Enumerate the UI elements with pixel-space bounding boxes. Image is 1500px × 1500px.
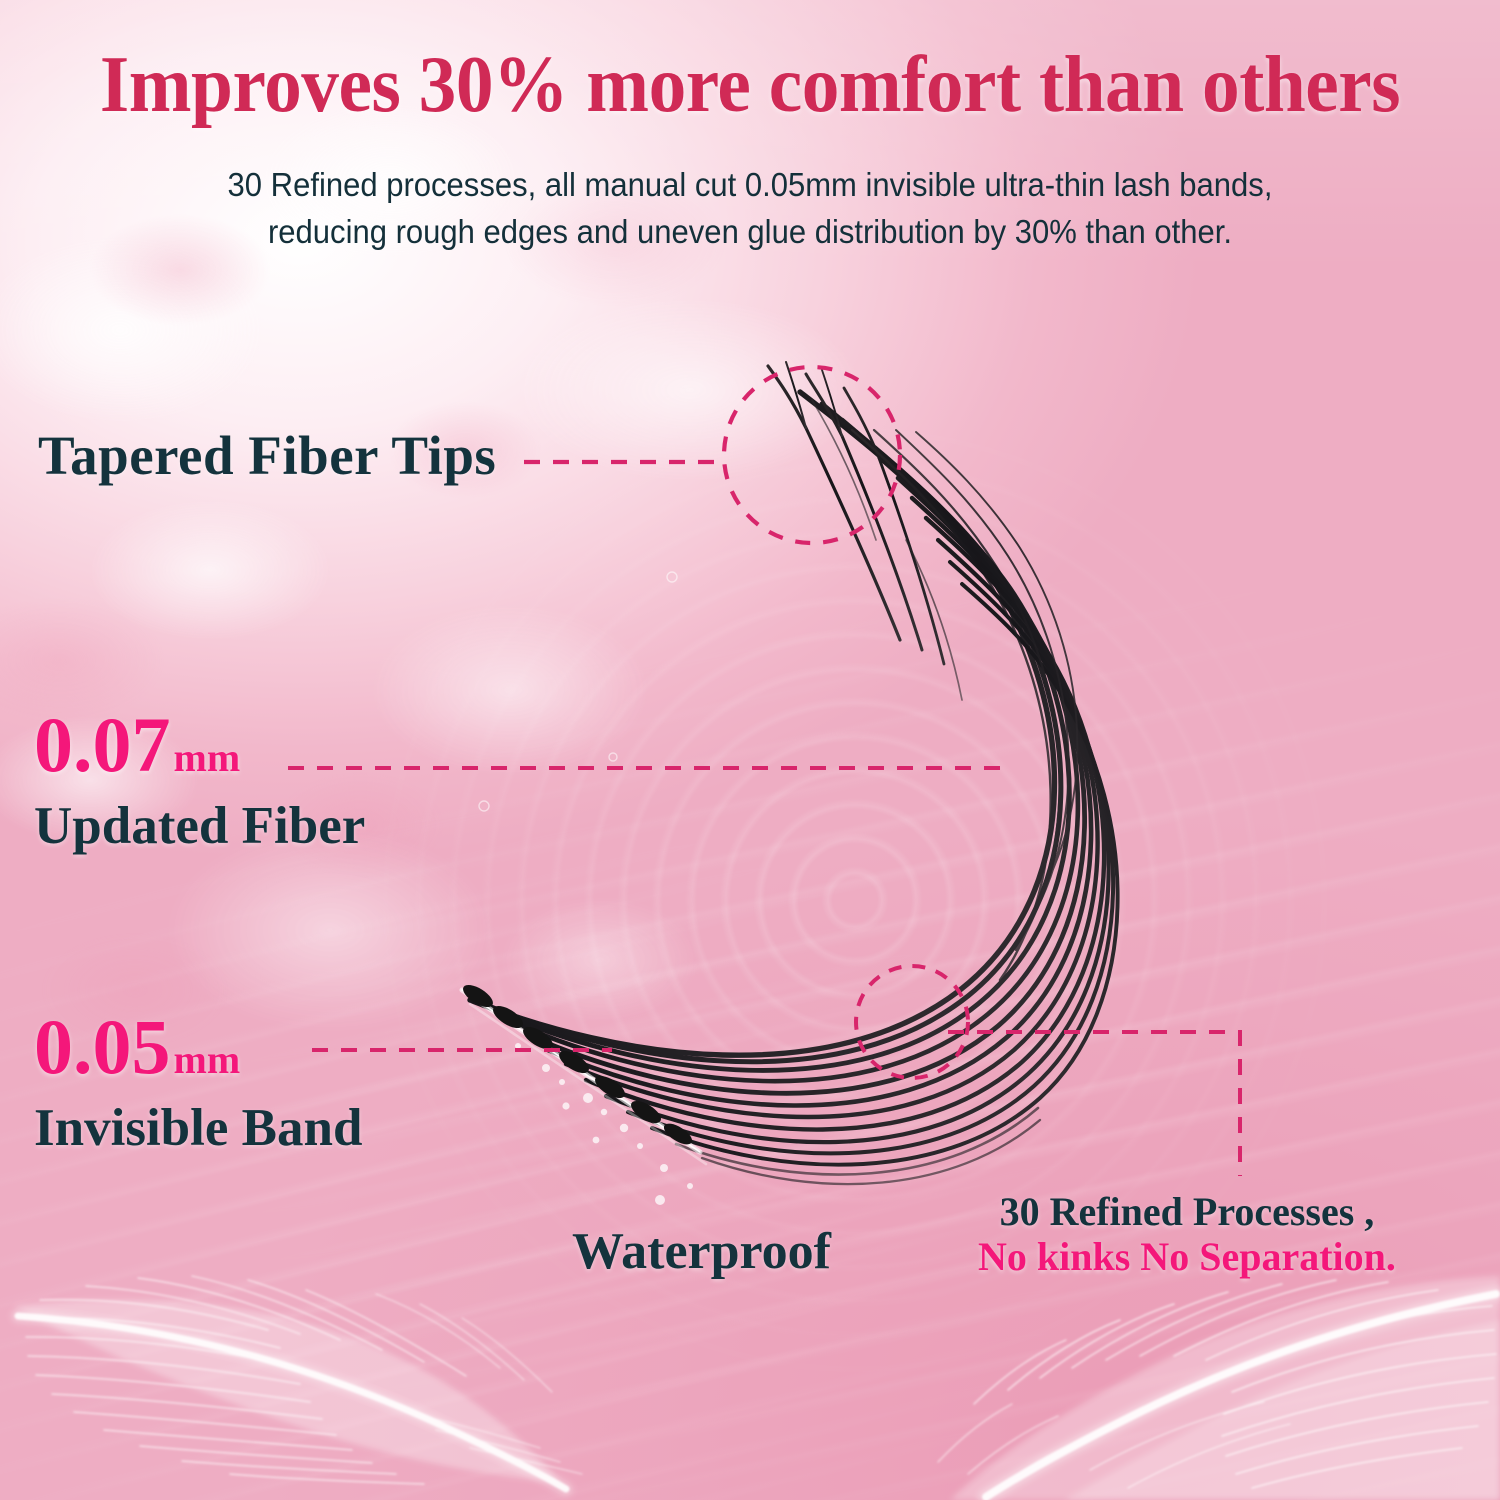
feather-icon-right	[938, 1276, 1500, 1500]
subtitle-line-2: reducing rough edges and uneven glue dis…	[101, 209, 1398, 256]
band-thickness-value: 0.05	[34, 1008, 171, 1086]
subtitle-line-1: 30 Refined processes, all manual cut 0.0…	[101, 162, 1398, 209]
fiber-thickness-value: 0.07	[34, 706, 171, 784]
refined-processes-line-1: 30 Refined Processes ,	[978, 1190, 1396, 1235]
refined-processes-line-2: No kinks No Separation.	[978, 1235, 1396, 1280]
fiber-thickness-unit: mm	[174, 738, 241, 778]
band-caption: Invisible Band	[34, 1102, 362, 1155]
lash-fan-illustration	[460, 362, 1118, 1205]
callout-value-row: 0.07 mm	[34, 706, 365, 784]
callout-value-row: 0.05 mm	[34, 1008, 362, 1086]
feather-icon-left	[14, 1276, 582, 1489]
callout-label-tapered-fiber-tips: Tapered Fiber Tips	[38, 424, 496, 487]
page-title: Improves 30% more comfort than others	[53, 38, 1448, 131]
dashed-circle-highlight-top	[724, 367, 900, 543]
fiber-caption: Updated Fiber	[34, 800, 365, 853]
subtitle-paragraph: 30 Refined processes, all manual cut 0.0…	[101, 162, 1398, 256]
infographic-canvas: Improves 30% more comfort than others 30…	[0, 0, 1500, 1500]
leader-refined-processes	[948, 1032, 1240, 1176]
band-thickness-unit: mm	[174, 1040, 241, 1080]
callout-updated-fiber: 0.07 mm Updated Fiber	[34, 706, 365, 853]
callout-label-waterproof: Waterproof	[572, 1222, 831, 1281]
callout-refined-processes: 30 Refined Processes , No kinks No Separ…	[978, 1190, 1396, 1280]
callout-invisible-band: 0.05 mm Invisible Band	[34, 1008, 362, 1155]
